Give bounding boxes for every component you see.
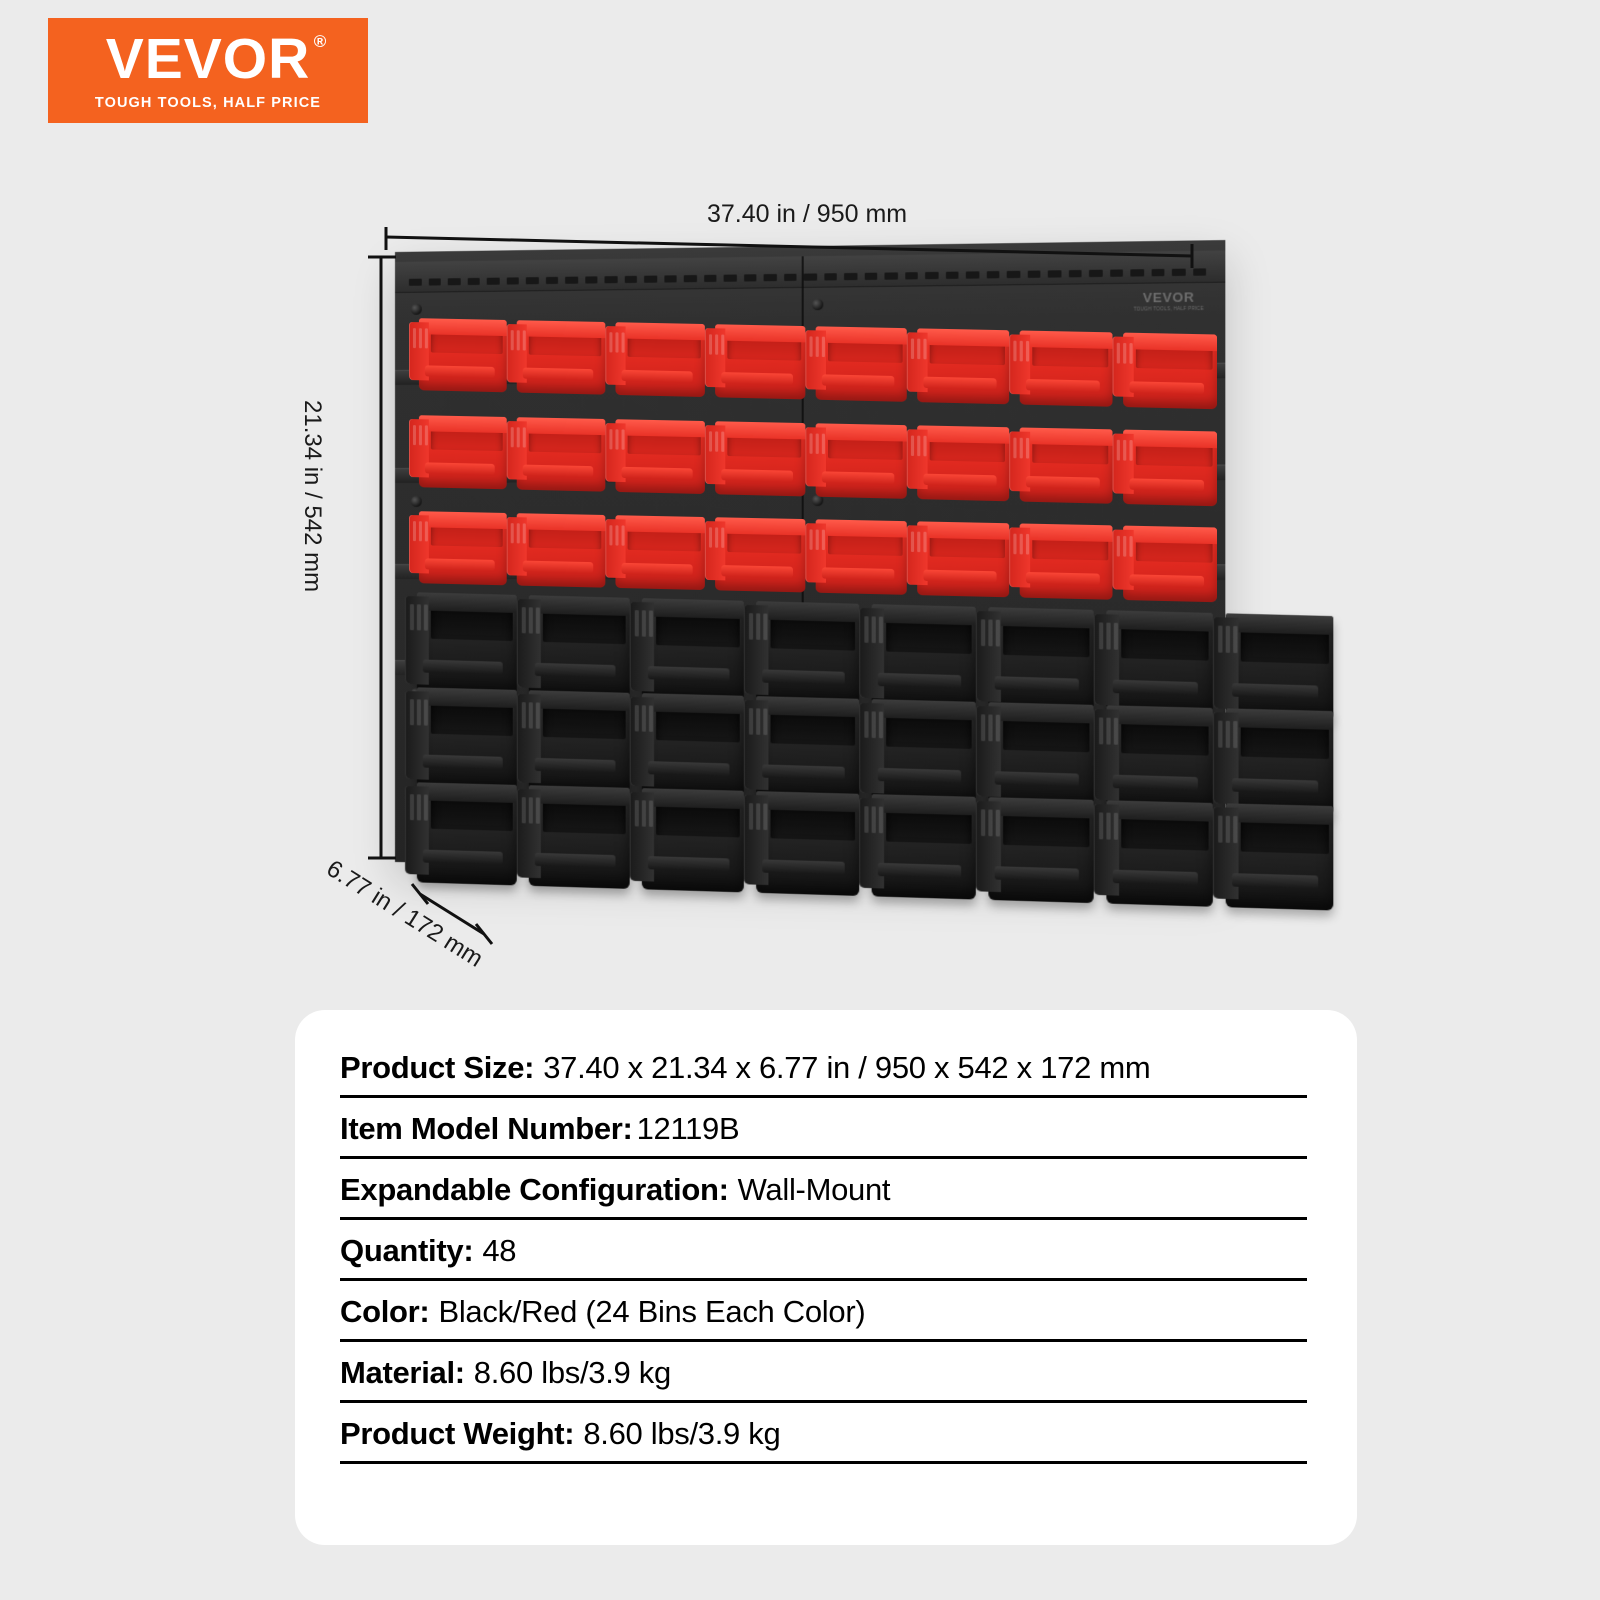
- storage-bin-red[interactable]: [409, 503, 507, 587]
- height-dimension-line: [368, 257, 396, 858]
- spec-label: Quantity:: [340, 1233, 473, 1269]
- storage-bin-red[interactable]: [907, 513, 1009, 599]
- storage-bin-red[interactable]: [605, 411, 705, 496]
- storage-bin-black[interactable]: [744, 781, 859, 898]
- pegboard-top-strip: [395, 250, 1225, 293]
- storage-bin-red[interactable]: [1009, 322, 1112, 409]
- product-illustration: VEVOR TOUGH TOOLS, HALF PRICE: [0, 0, 1600, 1000]
- storage-bin-red[interactable]: [507, 409, 606, 494]
- mounting-screw: [812, 299, 823, 310]
- storage-bin-red[interactable]: [507, 505, 606, 590]
- width-dimension-label: 37.40 in / 950 mm: [707, 200, 907, 229]
- storage-bin-red[interactable]: [409, 310, 507, 394]
- storage-bin-red[interactable]: [805, 318, 906, 404]
- storage-bin-red[interactable]: [805, 415, 906, 501]
- spec-label: Product Weight:: [340, 1416, 574, 1452]
- storage-bin-red[interactable]: [409, 407, 507, 491]
- spec-row-expandable-configuration: Expandable Configuration: Wall-Mount: [340, 1172, 1307, 1220]
- storage-bin-black[interactable]: [630, 778, 744, 895]
- spec-label: Expandable Configuration:: [340, 1172, 729, 1208]
- storage-bin-red[interactable]: [1113, 517, 1217, 604]
- spec-value: 12119B: [637, 1111, 740, 1147]
- spec-label: Color:: [340, 1294, 429, 1330]
- wall-mounted-bin-rack: VEVOR TOUGH TOOLS, HALF PRICE: [395, 252, 1200, 862]
- storage-bin-red[interactable]: [907, 417, 1009, 503]
- specification-card: Product Size: 37.40 x 21.34 x 6.77 in / …: [295, 1010, 1357, 1545]
- pegboard-brand-watermark: VEVOR TOUGH TOOLS, HALF PRICE: [1133, 290, 1204, 312]
- spec-row-item-model-number: Item Model Number: 12119B: [340, 1111, 1307, 1159]
- storage-bin-red[interactable]: [705, 509, 805, 595]
- storage-bin-red[interactable]: [1113, 421, 1217, 508]
- spec-value: 8.60 lbs/3.9 kg: [583, 1416, 780, 1452]
- storage-bin-red[interactable]: [705, 413, 805, 499]
- spec-label: Item Model Number:: [340, 1111, 633, 1147]
- storage-bin-red[interactable]: [605, 314, 705, 399]
- spec-row-material: Material: 8.60 lbs/3.9 kg: [340, 1355, 1307, 1403]
- pegboard-slot-row: [409, 268, 1206, 290]
- storage-bin-red[interactable]: [1009, 515, 1112, 602]
- spec-row-color: Color: Black/Red (24 Bins Each Color): [340, 1294, 1307, 1342]
- storage-bin-red[interactable]: [507, 312, 606, 397]
- spec-row-product-size: Product Size: 37.40 x 21.34 x 6.77 in / …: [340, 1050, 1307, 1098]
- storage-bin-black[interactable]: [1094, 790, 1213, 909]
- storage-bin-red[interactable]: [805, 511, 906, 597]
- bin-row-black-3: [405, 772, 1333, 913]
- storage-bin-black[interactable]: [1213, 793, 1333, 913]
- storage-bin-red[interactable]: [1113, 324, 1217, 411]
- spec-label: Material:: [340, 1355, 465, 1391]
- spec-value: Wall-Mount: [738, 1172, 891, 1208]
- spec-row-product-weight: Product Weight: 8.60 lbs/3.9 kg: [340, 1416, 1307, 1464]
- spec-row-quantity: Quantity: 48: [340, 1233, 1307, 1281]
- spec-label: Product Size:: [340, 1050, 534, 1086]
- spec-value: Black/Red (24 Bins Each Color): [438, 1294, 865, 1330]
- storage-bin-black[interactable]: [976, 787, 1094, 906]
- spec-value: 37.40 x 21.34 x 6.77 in / 950 x 542 x 17…: [543, 1050, 1150, 1086]
- storage-bin-black[interactable]: [405, 772, 517, 887]
- spec-value: 48: [482, 1233, 516, 1269]
- height-dimension-label: 21.34 in / 542 mm: [298, 400, 326, 592]
- storage-bin-red[interactable]: [605, 507, 705, 592]
- storage-bin-red[interactable]: [705, 316, 805, 402]
- spec-value: 8.60 lbs/3.9 kg: [474, 1355, 671, 1391]
- storage-bin-red[interactable]: [1009, 419, 1112, 506]
- storage-bin-red[interactable]: [907, 320, 1009, 406]
- storage-bin-black[interactable]: [859, 784, 976, 902]
- storage-bin-black[interactable]: [517, 775, 630, 891]
